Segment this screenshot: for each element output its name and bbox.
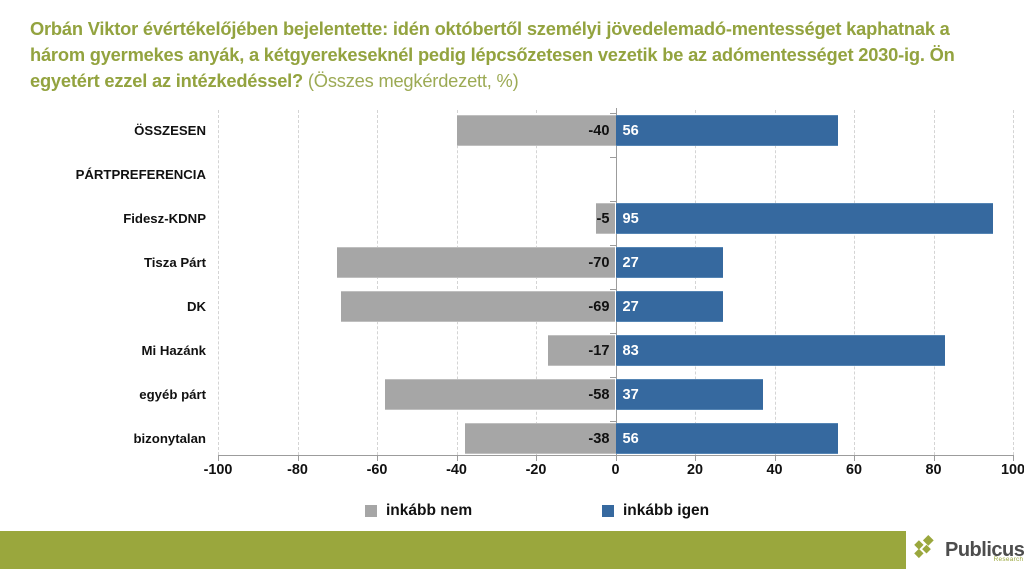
bar-positive[interactable]: 56: [616, 423, 839, 454]
bar-positive[interactable]: 27: [616, 291, 723, 322]
category-label: ÖSSZESEN: [0, 124, 206, 138]
bar-value-label: -70: [588, 248, 609, 279]
x-tick-label: 40: [745, 462, 805, 478]
bar-negative[interactable]: -38: [465, 423, 616, 454]
gridline: [218, 110, 219, 455]
axis-tick: [695, 455, 696, 461]
axis-tick: [616, 455, 617, 461]
gridline: [298, 110, 299, 455]
gridline: [854, 110, 855, 455]
title-subtitle: (Összes megkérdezett, %): [308, 70, 519, 91]
axis-tick: [775, 455, 776, 461]
x-tick-label: -20: [506, 462, 566, 478]
category-label: egyéb párt: [0, 388, 206, 402]
x-tick-label: 60: [824, 462, 884, 478]
axis-tick: [536, 455, 537, 461]
bar-value-label: 56: [623, 424, 639, 455]
axis-tick: [218, 455, 219, 461]
page-title: Orbán Viktor évértékelőjében bejelentett…: [30, 16, 995, 94]
chart-legend: inkább nem inkább igen: [0, 500, 1024, 526]
legend-label: inkább igen: [623, 502, 709, 520]
axis-tick: [610, 377, 616, 378]
x-tick-label: -100: [188, 462, 248, 478]
bar-value-label: 37: [623, 380, 639, 411]
bar-negative[interactable]: -17: [548, 335, 616, 366]
x-tick-label: 80: [904, 462, 964, 478]
footer-bar: [0, 531, 906, 569]
legend-swatch-icon: [365, 505, 377, 517]
axis-tick: [934, 455, 935, 461]
bar-positive[interactable]: 27: [616, 247, 723, 278]
axis-tick: [610, 157, 616, 158]
bar-value-label: -58: [588, 380, 609, 411]
x-tick-label: 100: [983, 462, 1024, 478]
gridline: [1013, 110, 1014, 455]
axis-tick: [610, 245, 616, 246]
bar-value-label: -5: [597, 204, 610, 235]
bar-negative[interactable]: -5: [596, 203, 616, 234]
x-tick-label: -40: [427, 462, 487, 478]
category-label: PÁRTPREFERENCIA: [0, 168, 206, 182]
bar-value-label: 83: [623, 336, 639, 367]
bar-positive[interactable]: 56: [616, 115, 839, 146]
legend-item-inkabb-nem[interactable]: inkább nem: [365, 500, 472, 522]
plot-area: -40 56 -5 95 -70 27 -69: [218, 110, 1013, 455]
legend-item-inkabb-igen[interactable]: inkább igen: [602, 500, 709, 522]
legend-label: inkább nem: [386, 502, 472, 520]
axis-tick: [610, 113, 616, 114]
category-label: DK: [0, 300, 206, 314]
bar-negative[interactable]: -58: [385, 379, 616, 410]
bar-value-label: -17: [588, 336, 609, 367]
legend-swatch-icon: [602, 505, 614, 517]
x-tick-label: -80: [268, 462, 328, 478]
logo-tagline: Research: [994, 557, 1024, 563]
gridline: [934, 110, 935, 455]
x-tick-label: -60: [347, 462, 407, 478]
axis-tick: [457, 455, 458, 461]
x-tick-label: 20: [665, 462, 725, 478]
axis-tick: [610, 333, 616, 334]
bar-negative[interactable]: -40: [457, 115, 616, 146]
logo-text: Publicus Research: [945, 540, 1024, 560]
bar-positive[interactable]: 95: [616, 203, 994, 234]
bar-value-label: 27: [623, 292, 639, 323]
gridline: [377, 110, 378, 455]
bar-negative[interactable]: -69: [341, 291, 615, 322]
bar-positive[interactable]: 37: [616, 379, 763, 410]
category-label: Fidesz-KDNP: [0, 212, 206, 226]
brand-logo: Publicus Research: [906, 531, 1024, 569]
diamond-cluster-icon: [914, 535, 940, 566]
axis-tick: [854, 455, 855, 461]
gridline: [775, 110, 776, 455]
bar-value-label: -69: [588, 292, 609, 323]
bar-value-label: 56: [623, 116, 639, 147]
axis-tick: [610, 289, 616, 290]
category-label: Tisza Párt: [0, 256, 206, 270]
bar-positive[interactable]: 83: [616, 335, 946, 366]
slide-canvas: Orbán Viktor évértékelőjében bejelentett…: [0, 0, 1024, 569]
category-label: bizonytalan: [0, 432, 206, 446]
category-label: Mi Hazánk: [0, 344, 206, 358]
bar-value-label: -38: [588, 424, 609, 455]
diverging-bar-chart: -40 56 -5 95 -70 27 -69: [0, 104, 1024, 496]
axis-tick: [610, 421, 616, 422]
x-tick-label: 0: [586, 462, 646, 478]
axis-tick: [298, 455, 299, 461]
axis-tick: [610, 201, 616, 202]
bar-negative[interactable]: -70: [337, 247, 615, 278]
bar-value-label: 27: [623, 248, 639, 279]
bar-value-label: 95: [623, 204, 639, 235]
axis-tick: [1013, 455, 1014, 461]
axis-tick: [377, 455, 378, 461]
bar-value-label: -40: [588, 116, 609, 147]
